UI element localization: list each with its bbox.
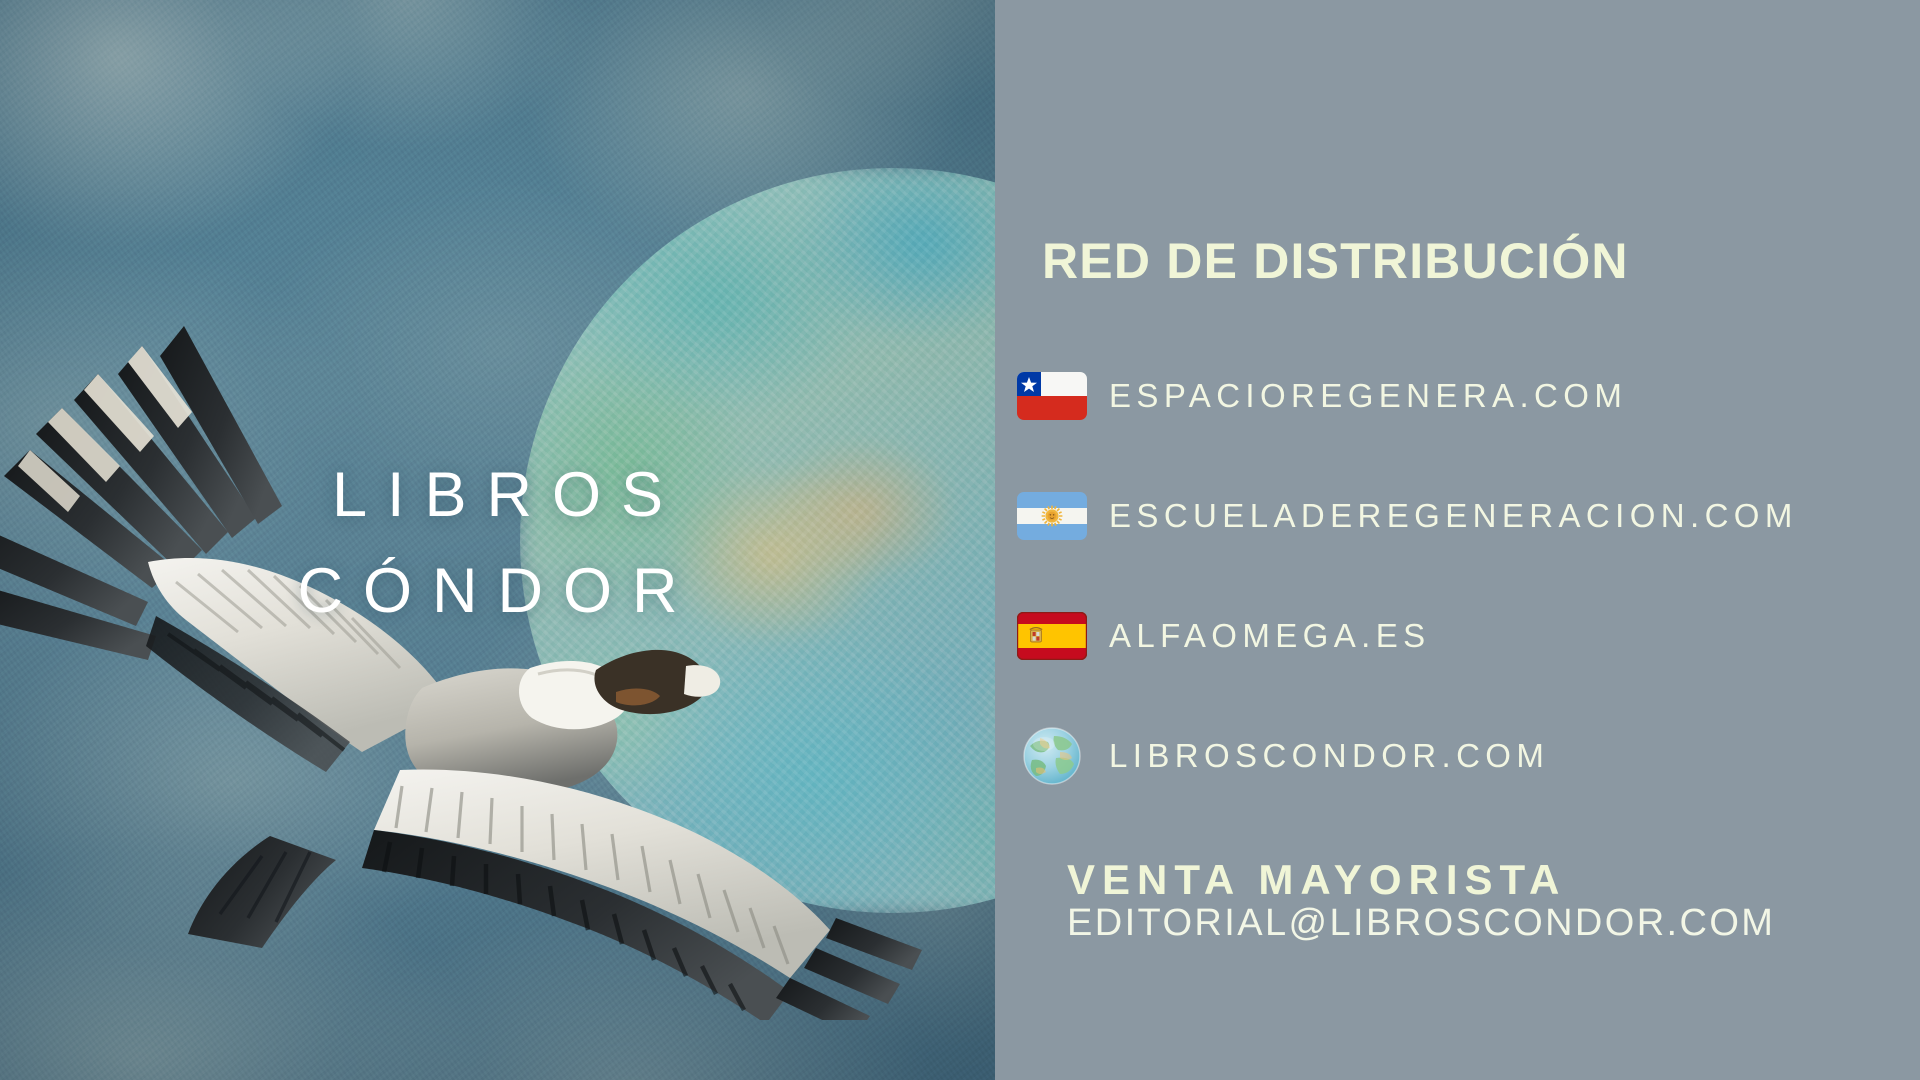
- globe-icon: [1013, 729, 1091, 783]
- wholesale-email[interactable]: EDITORIAL@LIBROSCONDOR.COM: [1067, 902, 1920, 945]
- flag-chile-icon: [1013, 369, 1091, 423]
- info-panel: RED DE DISTRIBUCIÓN ESPACIOREGEN: [995, 0, 1920, 1080]
- page-title: LIBROS CÓNDOR: [0, 448, 995, 640]
- flag-spain-icon: [1013, 609, 1091, 663]
- list-item[interactable]: ESPACIOREGENERA.COM: [1007, 336, 1920, 456]
- list-item-label: ESCUELADEREGENERACION.COM: [1109, 497, 1798, 535]
- list-item[interactable]: LIBROSCONDOR.COM: [1007, 696, 1920, 816]
- list-item-label: ESPACIOREGENERA.COM: [1109, 377, 1627, 415]
- poster-canvas: LIBROS CÓNDOR RED DE DISTRIBUCIÓN: [0, 0, 1920, 1080]
- list-item-label: LIBROSCONDOR.COM: [1109, 737, 1549, 775]
- distribution-network-list: ESPACIOREGENERA.COM: [1007, 336, 1920, 816]
- flag-argentina-icon: [1013, 489, 1091, 543]
- distribution-network-heading: RED DE DISTRIBUCIÓN: [1042, 232, 1629, 290]
- wholesale-block: VENTA MAYORISTA EDITORIAL@LIBROSCONDOR.C…: [1067, 856, 1920, 945]
- list-item[interactable]: ESCUELADEREGENERACION.COM: [1007, 456, 1920, 576]
- wholesale-title: VENTA MAYORISTA: [1067, 856, 1920, 904]
- list-item-label: ALFAOMEGA.ES: [1109, 617, 1431, 655]
- photo-panel: LIBROS CÓNDOR: [0, 0, 995, 1080]
- list-item[interactable]: ALFAOMEGA.ES: [1007, 576, 1920, 696]
